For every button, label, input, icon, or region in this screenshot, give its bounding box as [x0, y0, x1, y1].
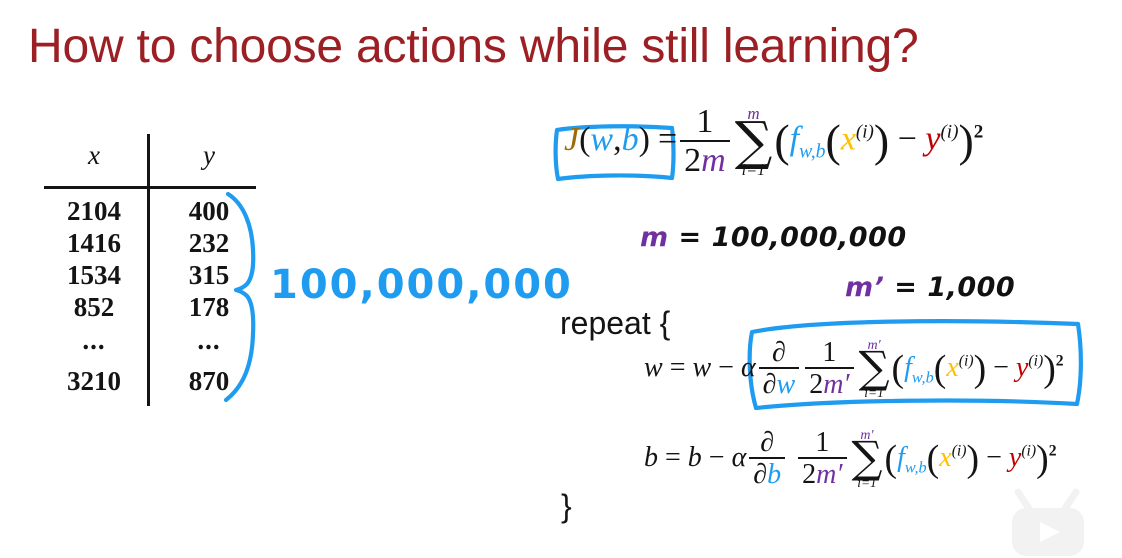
mb-fraction-numerator: 1 [805, 338, 853, 367]
partial-den-symbol: ∂ [753, 459, 767, 490]
mb-outer-lparen: ( [884, 438, 897, 480]
w-minus: − [718, 352, 734, 383]
w-lhs: w [644, 352, 663, 383]
mb-f-subscript: w,b [905, 458, 927, 476]
mb-inner-rparen: ) [967, 438, 980, 480]
mb-outer-rparen: ) [1036, 438, 1049, 480]
m-prime-symbol-label: m’ [845, 272, 884, 303]
b-minus: − [709, 442, 725, 473]
mb-fraction-denominator: 2m′ [805, 367, 853, 400]
minibatch-summation-operator: m′∑i=1 [859, 339, 890, 399]
repeat-block-close: } [561, 488, 572, 525]
table-cell-x-0: 2104 [42, 196, 146, 227]
m-value: = 100,000,000 [679, 222, 907, 253]
partial-den-symbol: ∂ [763, 369, 777, 400]
mb-outer-rparen: ) [1043, 348, 1056, 390]
lparen: ( [579, 121, 590, 158]
mb-y-symbol: y [1009, 442, 1021, 473]
cost-function-J-term: J(w,b) [556, 120, 658, 161]
inner-lparen: ( [826, 115, 841, 166]
one-over-two-m-prime-fraction: 12m′ [805, 338, 853, 401]
inner-rparen: ) [874, 115, 889, 166]
minus-sign: − [898, 121, 917, 158]
w-rhs: w [692, 352, 711, 383]
sigma-icon: ∑ [735, 120, 773, 163]
mb-denominator-two: 2 [809, 369, 823, 400]
minibatch-summation-operator: m′∑i=1 [852, 429, 883, 489]
partial-derivative-b: ∂∂b [749, 428, 785, 491]
table-header-x: x [42, 140, 146, 171]
y-symbol: y [925, 121, 940, 158]
J-symbol: J [564, 121, 579, 158]
w-update-equation: w = w − α∂∂w12m′m′∑i=1(fw,b(x(i)) − y(i)… [644, 338, 1064, 401]
w-eq: = [670, 352, 686, 383]
table-annotation-count: 100,000,000 [270, 262, 573, 308]
table-cell-x-2: 1534 [42, 260, 146, 291]
f-symbol: f [790, 121, 799, 158]
page-title: How to choose actions while still learni… [28, 22, 919, 72]
y-superscript: (i) [940, 121, 958, 142]
b-lhs: b [644, 442, 658, 473]
mb-square-exponent: 2 [1049, 442, 1057, 459]
f-subscript: w,b [799, 140, 825, 162]
mb-denominator-m-prime: m′ [823, 369, 849, 400]
table-cell-x-1: 1416 [42, 228, 146, 259]
rparen: ) [639, 121, 650, 158]
sigma-icon: ∑ [852, 441, 883, 477]
mb-f-symbol: f [904, 352, 912, 383]
comma: , [613, 121, 622, 158]
partial-derivative-w: ∂∂w [759, 338, 800, 401]
partial-den-variable: w [777, 369, 796, 400]
b-eq: = [665, 442, 681, 473]
table-cell-x-4: ... [42, 332, 146, 348]
one-over-two-m-fraction: 12m [680, 104, 730, 180]
cost-function-equation: J(w,b)=12mm∑i=1(fw,b(x(i)) − y(i))2 [556, 104, 983, 180]
repeat-block-open: repeat { [560, 305, 670, 342]
x-superscript: (i) [856, 121, 874, 142]
table-header-y: y [157, 140, 261, 171]
m-value-line: m = 100,000,000 [640, 222, 907, 253]
mb-y-superscript: (i) [1028, 352, 1043, 369]
mb-outer-lparen: ( [892, 348, 905, 390]
sigma-icon: ∑ [859, 351, 890, 387]
mb-inner-lparen: ( [927, 438, 940, 480]
w-symbol: w [590, 121, 613, 158]
partial-denominator: ∂b [749, 457, 785, 490]
mb-x-symbol: x [946, 352, 958, 383]
equals-sign: = [658, 121, 677, 158]
table-cell-x-3: 852 [42, 292, 146, 323]
video-player-watermark-icon [1008, 488, 1104, 558]
partial-numerator: ∂ [759, 338, 800, 367]
alpha-symbol: α [741, 352, 756, 383]
mb-inner-rparen: ) [974, 348, 987, 390]
mb-f-subscript: w,b [912, 368, 934, 386]
m-prime-value-line: m’ = 1,000 [845, 272, 1015, 303]
fraction-denominator: 2m [680, 140, 730, 180]
b-rhs: b [688, 442, 702, 473]
partial-denominator: ∂w [759, 367, 800, 400]
b-symbol: b [622, 121, 639, 158]
mb-denominator-two: 2 [802, 459, 816, 490]
mb-fraction-numerator: 1 [798, 428, 846, 457]
m-prime-value: = 1,000 [894, 272, 1015, 303]
outer-rparen: ) [958, 115, 973, 166]
partial-numerator: ∂ [749, 428, 785, 457]
alpha-symbol: α [732, 442, 747, 473]
mb-minus-sign: − [986, 442, 1002, 473]
table-vertical-divider [147, 134, 150, 406]
mb-square-exponent: 2 [1056, 352, 1064, 369]
mb-minus-sign: − [993, 352, 1009, 383]
mb-f-symbol: f [897, 442, 905, 473]
x-symbol: x [841, 121, 856, 158]
summation-operator: m∑i=1 [735, 105, 773, 179]
fraction-numerator: 1 [680, 104, 730, 140]
denominator-two: 2 [684, 142, 701, 179]
mb-x-symbol: x [939, 442, 951, 473]
one-over-two-m-prime-fraction: 12m′ [798, 428, 846, 491]
table-cell-x-5: 3210 [42, 366, 146, 397]
mb-x-superscript: (i) [952, 442, 967, 459]
outer-lparen: ( [774, 115, 789, 166]
mb-y-superscript: (i) [1021, 442, 1036, 459]
mb-inner-lparen: ( [934, 348, 947, 390]
m-symbol-label: m [640, 222, 669, 253]
mb-y-symbol: y [1016, 352, 1028, 383]
mb-x-superscript: (i) [959, 352, 974, 369]
square-exponent: 2 [974, 121, 984, 142]
partial-den-variable: b [767, 459, 781, 490]
denominator-m: m [701, 142, 726, 179]
b-update-equation: b = b − α∂∂b 12m′m′∑i=1(fw,b(x(i)) − y(i… [644, 428, 1057, 491]
mb-fraction-denominator: 2m′ [798, 457, 846, 490]
mb-denominator-m-prime: m′ [816, 459, 842, 490]
